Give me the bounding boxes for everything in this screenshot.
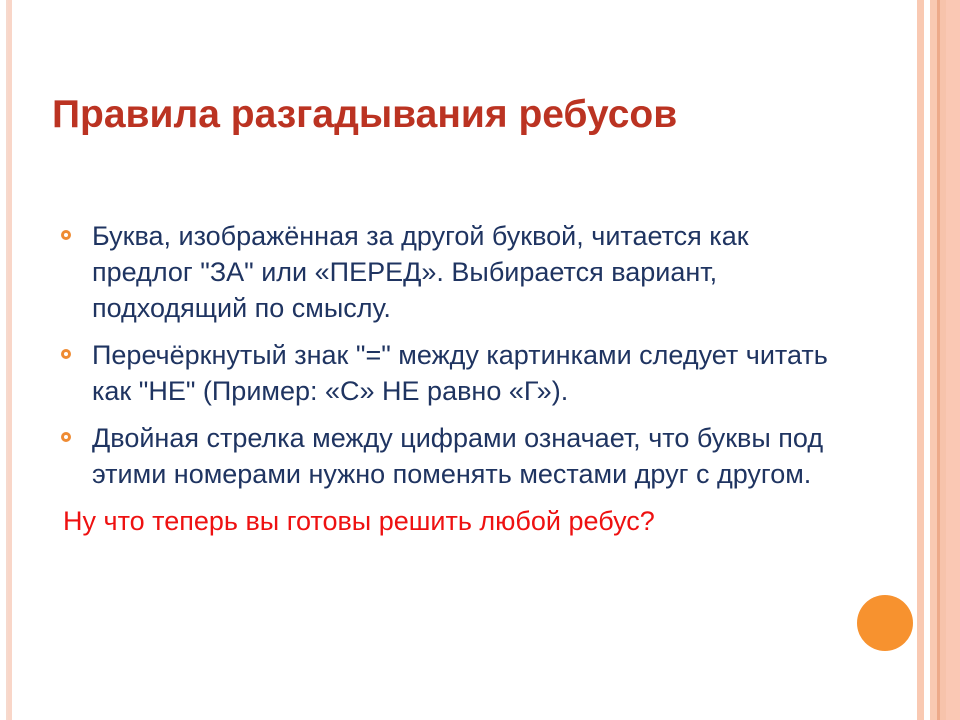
list-item-text: Буква, изображённая за другой буквой, чи… [92, 221, 749, 323]
left-border-stripe-inner [8, 0, 12, 720]
list-item-text: Двойная стрелка между цифрами означает, … [92, 423, 823, 489]
list-item: Перечёркнутый знак "=" между картинками … [58, 337, 848, 409]
orange-circle-decoration [857, 595, 913, 651]
list-item: Двойная стрелка между цифрами означает, … [58, 420, 848, 492]
slide-body: Буква, изображённая за другой буквой, чи… [58, 218, 848, 539]
right-border-stripe-2 [930, 0, 937, 720]
slide-title: Правила разгадывания ребусов [52, 92, 852, 138]
list-item-text: Перечёркнутый знак "=" между картинками … [92, 340, 828, 406]
presentation-slide: Правила разгадывания ребусов Буква, изоб… [0, 0, 960, 720]
bullet-circle-icon [61, 432, 71, 442]
right-border-stripe-1 [917, 0, 924, 720]
closing-question-text: Ну что теперь вы готовы решить любой реб… [58, 503, 848, 539]
bullet-circle-icon [61, 230, 71, 240]
bullet-circle-icon [61, 349, 71, 359]
list-item: Буква, изображённая за другой буквой, чи… [58, 218, 848, 326]
right-border-stripe-5 [946, 0, 960, 720]
